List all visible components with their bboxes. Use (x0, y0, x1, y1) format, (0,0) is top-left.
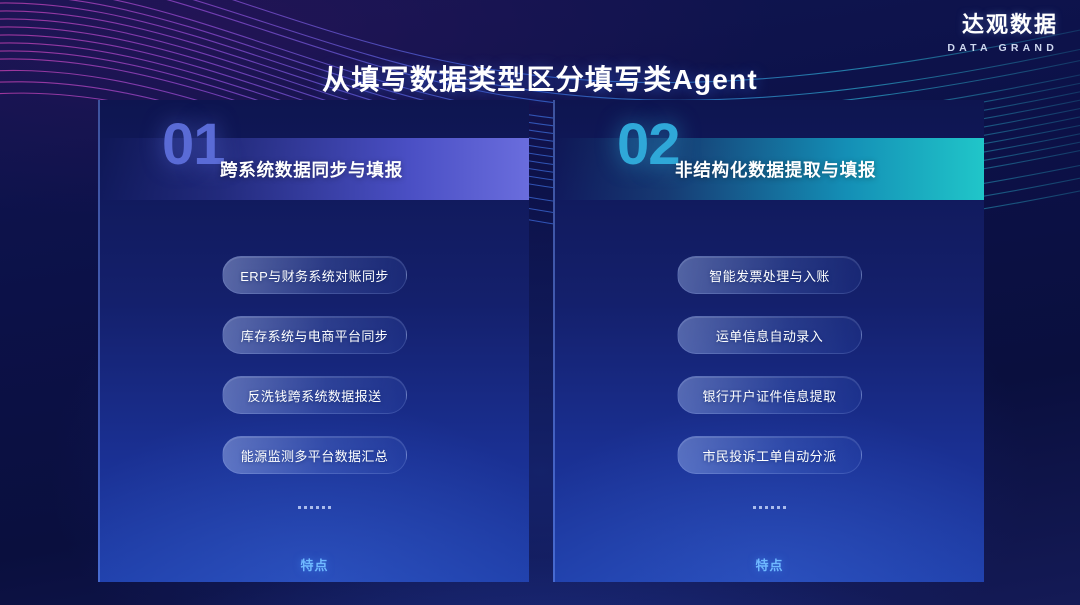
pill-item[interactable]: ERP与财务系统对账同步 (222, 256, 407, 294)
card-02-pill-grid: 智能发票处理与入账 运单信息自动录入 银行开户证件信息提取 市民投诉工单自动分派 (555, 256, 984, 474)
card-02-title: 非结构化数据提取与填报 (675, 138, 876, 200)
card-01-pill-grid: ERP与财务系统对账同步 库存系统与电商平台同步 反洗钱跨系统数据报送 能源监测… (100, 256, 529, 474)
pill-item[interactable]: 库存系统与电商平台同步 (222, 316, 407, 354)
card-01-ellipsis (100, 506, 529, 509)
card-01-title: 跨系统数据同步与填报 (220, 138, 403, 200)
card-02-ellipsis (555, 506, 984, 509)
slide-root: 达观数据 DATA GRAND 从填写数据类型区分填写类Agent 01 跨系统… (0, 0, 1080, 605)
pill-item[interactable]: 反洗钱跨系统数据报送 (222, 376, 407, 414)
pill-item[interactable]: 银行开户证件信息提取 (677, 376, 862, 414)
pill-item[interactable]: 能源监测多平台数据汇总 (222, 436, 407, 474)
card-02-header: 02 非结构化数据提取与填报 (555, 138, 984, 200)
brand-name-en: DATA GRAND (947, 43, 1058, 54)
card-01: 01 跨系统数据同步与填报 ERP与财务系统对账同步 库存系统与电商平台同步 反… (98, 100, 529, 582)
pill-item[interactable]: 运单信息自动录入 (677, 316, 862, 354)
card-01-features: 特点 模拟人工操作 跨系统输入 (100, 555, 529, 582)
card-02-features: 特点 结合NLP技术 复杂文档解析 (555, 555, 984, 582)
card-01-number: 01 (162, 116, 225, 174)
card-01-features-title: 特点 (100, 555, 529, 574)
card-02-number: 02 (617, 116, 680, 174)
card-02-features-title: 特点 (555, 555, 984, 574)
card-01-header: 01 跨系统数据同步与填报 (100, 138, 529, 200)
brand-logo: 达观数据 DATA GRAND (947, 14, 1058, 54)
page-title: 从填写数据类型区分填写类Agent (0, 58, 1080, 98)
card-container: 01 跨系统数据同步与填报 ERP与财务系统对账同步 库存系统与电商平台同步 反… (98, 100, 984, 582)
brand-name-cn: 达观数据 (947, 14, 1058, 36)
pill-item[interactable]: 智能发票处理与入账 (677, 256, 862, 294)
card-02: 02 非结构化数据提取与填报 智能发票处理与入账 运单信息自动录入 银行开户证件… (553, 100, 984, 582)
pill-item[interactable]: 市民投诉工单自动分派 (677, 436, 862, 474)
